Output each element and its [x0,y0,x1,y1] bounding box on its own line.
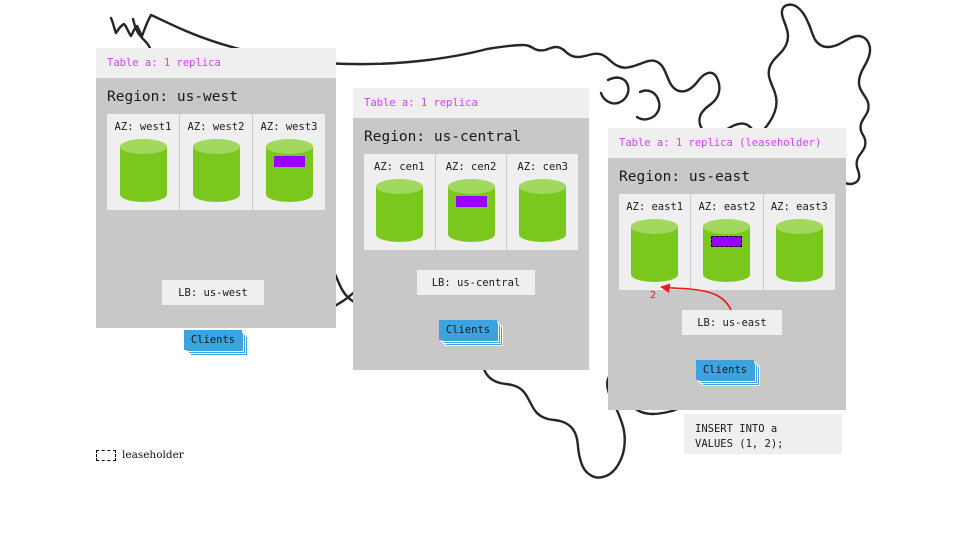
az-strip-us-central: AZ: cen1 AZ: cen2 AZ: cen3 [364,154,578,250]
legend: leaseholder [96,449,184,461]
clients-sheet-1[interactable]: Clients [184,330,242,350]
az-cell-west1: AZ: west1 [107,114,179,210]
cylinder-top [631,219,678,234]
region-title-us-east: Region: us-east [608,158,846,194]
panel-header-us-central: Table a: 1 replica [353,88,589,118]
cylinder-top [266,139,313,154]
az-label-cen3: AZ: cen3 [517,161,568,173]
az-cell-cen1: AZ: cen1 [364,154,435,250]
panel-header-us-east: Table a: 1 replica (leaseholder) [608,128,846,158]
cylinder-top [519,179,566,194]
node-cylinder-east2 [703,219,750,281]
replica-block-east2-leaseholder [711,236,742,247]
az-label-west1: AZ: west1 [115,121,172,133]
clients-sheet-1[interactable]: Clients [696,360,754,380]
cylinder-top [193,139,240,154]
replica-summary-label: Table a: 1 replica [107,57,221,69]
clients-label: Clients [446,324,490,336]
az-strip-us-east: AZ: east1 AZ: east2 AZ: east3 [619,194,835,290]
cylinder-top [448,179,495,194]
replica-summary-label: Table a: 1 replica [364,97,478,109]
cylinder-top [120,139,167,154]
node-cylinder-east3 [776,219,823,281]
az-cell-east2: AZ: east2 [690,194,762,290]
az-strip-us-west: AZ: west1 AZ: west2 AZ: west3 [107,114,325,210]
replica-block-west3 [274,156,305,167]
az-label-west2: AZ: west2 [188,121,245,133]
az-label-cen1: AZ: cen1 [374,161,425,173]
cylinder-top [776,219,823,234]
clients-stack-us-east[interactable]: Clients [696,360,758,382]
region-title-us-west: Region: us-west [96,78,336,114]
az-label-cen2: AZ: cen2 [446,161,497,173]
region-panel-us-central: Table a: 1 replica Region: us-central AZ… [353,88,589,370]
lb-label: LB: us-east [697,317,767,329]
lb-label: LB: us-west [178,287,248,299]
region-title-us-central: Region: us-central [353,118,589,154]
lb-label: LB: us-central [432,277,521,289]
region-panel-us-west: Table a: 1 replica Region: us-west AZ: w… [96,48,336,328]
load-balancer-us-west[interactable]: LB: us-west [162,280,264,305]
region-panel-us-east: Table a: 1 replica (leaseholder) Region:… [608,128,846,410]
clients-label: Clients [703,364,747,376]
node-cylinder-west1 [120,139,167,201]
node-cylinder-west2 [193,139,240,201]
legend-label: leaseholder [122,449,184,461]
leaseholder-swatch-icon [96,450,116,461]
load-balancer-us-central[interactable]: LB: us-central [417,270,535,295]
az-label-east3: AZ: east3 [771,201,828,213]
clients-stack-us-central[interactable]: Clients [439,320,501,342]
panel-header-us-west: Table a: 1 replica [96,48,336,78]
clients-label: Clients [191,334,235,346]
node-cylinder-cen3 [519,179,566,241]
node-cylinder-cen2 [448,179,495,241]
cylinder-top [376,179,423,194]
sql-statement-box: INSERT INTO a VALUES (1, 2); [684,414,842,454]
clients-stack-us-west[interactable]: Clients [184,330,246,352]
az-cell-east1: AZ: east1 [619,194,690,290]
az-cell-cen3: AZ: cen3 [506,154,578,250]
az-label-east1: AZ: east1 [626,201,683,213]
diagram-canvas: Table a: 1 replica Region: us-west AZ: w… [0,0,960,540]
replica-block-cen2 [456,196,487,207]
load-balancer-us-east[interactable]: LB: us-east [682,310,782,335]
az-label-west3: AZ: west3 [261,121,318,133]
node-cylinder-cen1 [376,179,423,241]
az-cell-cen2: AZ: cen2 [435,154,507,250]
arrow-step-label: 2 [650,290,656,301]
node-cylinder-east1 [631,219,678,281]
az-cell-west3: AZ: west3 [252,114,325,210]
replica-summary-label: Table a: 1 replica (leaseholder) [619,137,821,149]
az-cell-east3: AZ: east3 [763,194,835,290]
node-cylinder-west3 [266,139,313,201]
az-label-east2: AZ: east2 [699,201,756,213]
az-cell-west2: AZ: west2 [179,114,252,210]
clients-sheet-1[interactable]: Clients [439,320,497,340]
